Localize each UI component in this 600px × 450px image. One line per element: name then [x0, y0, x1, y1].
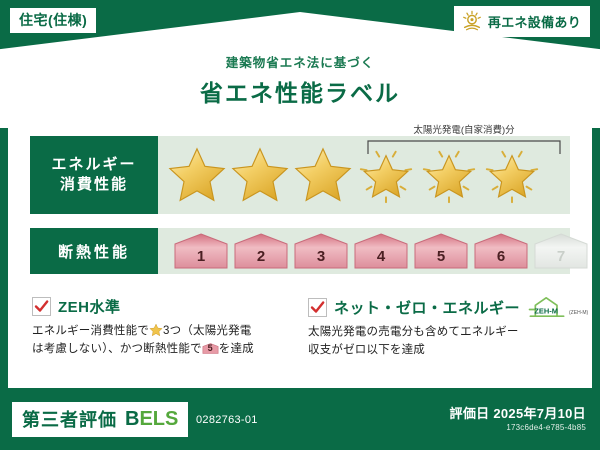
bels-letters-els: ELS [139, 408, 178, 430]
criterion-net-zero-energy: ネット・ゼロ・エネルギー ZEH-M (ZEH-M) 太陽光発電の売電分も含めて… [308, 296, 598, 360]
star-icon-2 [229, 144, 291, 206]
insulation-level-2-value: 2 [257, 248, 265, 270]
netzero-text-line2: 収支がゼロ以下を達成 [308, 344, 425, 356]
footer-bar: 第三者評価 BELS 0282763-01 評価日 2025年7月10日 173… [0, 392, 600, 450]
evaluation-date: 評価日 2025年7月10日 [450, 403, 586, 422]
zeh-m-house-icon: ZEH-M [527, 296, 567, 318]
insulation-performance-row-body: 1 2 3 [158, 228, 570, 274]
evaluation-hash: 173c6de4-e785-4b85 [506, 423, 586, 432]
insulation-level-1: 1 [172, 232, 230, 270]
zeh-text-part2: 3つ（太陽光発電 [163, 325, 252, 337]
criterion-zeh-standard-text: エネルギー消費性能で3つ（太陽光発電 は考慮しない）、かつ断熱性能で5を達成 [32, 323, 302, 359]
zeh-text-line2a: は考慮しない）、かつ断熱性能で [32, 343, 202, 355]
insulation-level-6: 6 [472, 232, 530, 270]
checkbox-checked-icon [32, 297, 51, 316]
insulation-level-group: 1 2 3 [158, 228, 570, 274]
criterion-zeh-standard-title: ZEH水準 [58, 296, 121, 317]
insulation-level-1-value: 1 [197, 248, 205, 270]
title-main: 省エネ性能ラベル [0, 74, 600, 108]
building-type-tag-label: 住宅(住棟) [19, 12, 87, 28]
sun-solar-icon [461, 10, 483, 32]
building-type-tag: 住宅(住棟) [10, 8, 96, 33]
insulation-level-7: 7 [532, 232, 590, 270]
label-title-block: 建築物省エネ法に基づく 省エネ性能ラベル [0, 52, 600, 108]
star-icon-1 [166, 144, 228, 206]
renewable-equipment-label: 再エネ設備あり [488, 12, 581, 31]
insulation-performance-row: 断熱性能 [30, 228, 570, 274]
insulation-badge-icon-inline: 5 [202, 341, 219, 356]
insulation-level-4: 4 [352, 232, 410, 270]
evaluation-date-value: 2025年7月10日 [493, 406, 586, 421]
criterion-net-zero-energy-text: 太陽光発電の売電分も含めてエネルギー 収支がゼロ以下を達成 [308, 324, 598, 360]
svg-text:ZEH-M: ZEH-M [534, 307, 558, 316]
netzero-text-line1: 太陽光発電の売電分も含めてエネルギー [308, 326, 519, 338]
evaluation-date-label: 評価日 [450, 406, 490, 421]
star-icon-inline [149, 323, 163, 337]
energy-performance-label: 住宅(住棟) 再エネ設備あり 建築物省エネ法に基づく 省エネ性能ラベル [0, 0, 600, 450]
zeh-text-line2b: を達成 [219, 343, 254, 355]
checkbox-checked-icon [308, 298, 327, 317]
title-subtitle: 建築物省エネ法に基づく [0, 52, 600, 71]
bels-letter-b: B [125, 408, 139, 430]
bels-wordmark: BELS [125, 408, 178, 431]
zeh-m-logo-subtext: (ZEH-M) [569, 310, 588, 318]
label-body-card: エネルギー 消費性能 太陽光発電(自家消費)分 [8, 120, 592, 388]
insulation-badge-value: 5 [202, 342, 219, 356]
insulation-level-6-value: 6 [497, 248, 505, 270]
insulation-level-2: 2 [232, 232, 290, 270]
bels-logo-box: 第三者評価 BELS [12, 402, 188, 437]
energy-label-line2: 消費性能 [51, 175, 136, 195]
star-icon-3 [292, 144, 354, 206]
insulation-level-7-value: 7 [557, 248, 565, 270]
renewable-equipment-tag: 再エネ設備あり [454, 6, 590, 37]
zeh-text-part1: エネルギー消費性能で [32, 325, 149, 337]
third-party-evaluation-label: 第三者評価 [22, 406, 117, 432]
criterion-net-zero-energy-header: ネット・ゼロ・エネルギー ZEH-M (ZEH-M) [308, 296, 598, 318]
zeh-m-logo: ZEH-M (ZEH-M) [527, 296, 588, 318]
insulation-level-3-value: 3 [317, 248, 325, 270]
certificate-number: 0282763-01 [196, 414, 258, 426]
energy-performance-row-label: エネルギー 消費性能 [30, 136, 158, 214]
insulation-level-3: 3 [292, 232, 350, 270]
energy-performance-row: エネルギー 消費性能 太陽光発電(自家消費)分 [30, 136, 570, 214]
insulation-level-5: 5 [412, 232, 470, 270]
energy-label-line1: エネルギー [51, 155, 136, 175]
solar-portion-caption: 太陽光発電(自家消費)分 [354, 122, 574, 136]
insulation-level-4-value: 4 [377, 248, 385, 270]
criterion-zeh-standard-header: ZEH水準 [32, 296, 302, 317]
insulation-level-5-value: 5 [437, 248, 445, 270]
insulation-performance-row-label: 断熱性能 [30, 228, 158, 274]
energy-performance-row-body: 太陽光発電(自家消費)分 [158, 136, 570, 214]
solar-portion-bracket [366, 136, 562, 156]
criterion-zeh-standard: ZEH水準 エネルギー消費性能で3つ（太陽光発電 は考慮しない）、かつ断熱性能で… [32, 296, 302, 359]
criterion-net-zero-energy-title: ネット・ゼロ・エネルギー [334, 297, 520, 318]
